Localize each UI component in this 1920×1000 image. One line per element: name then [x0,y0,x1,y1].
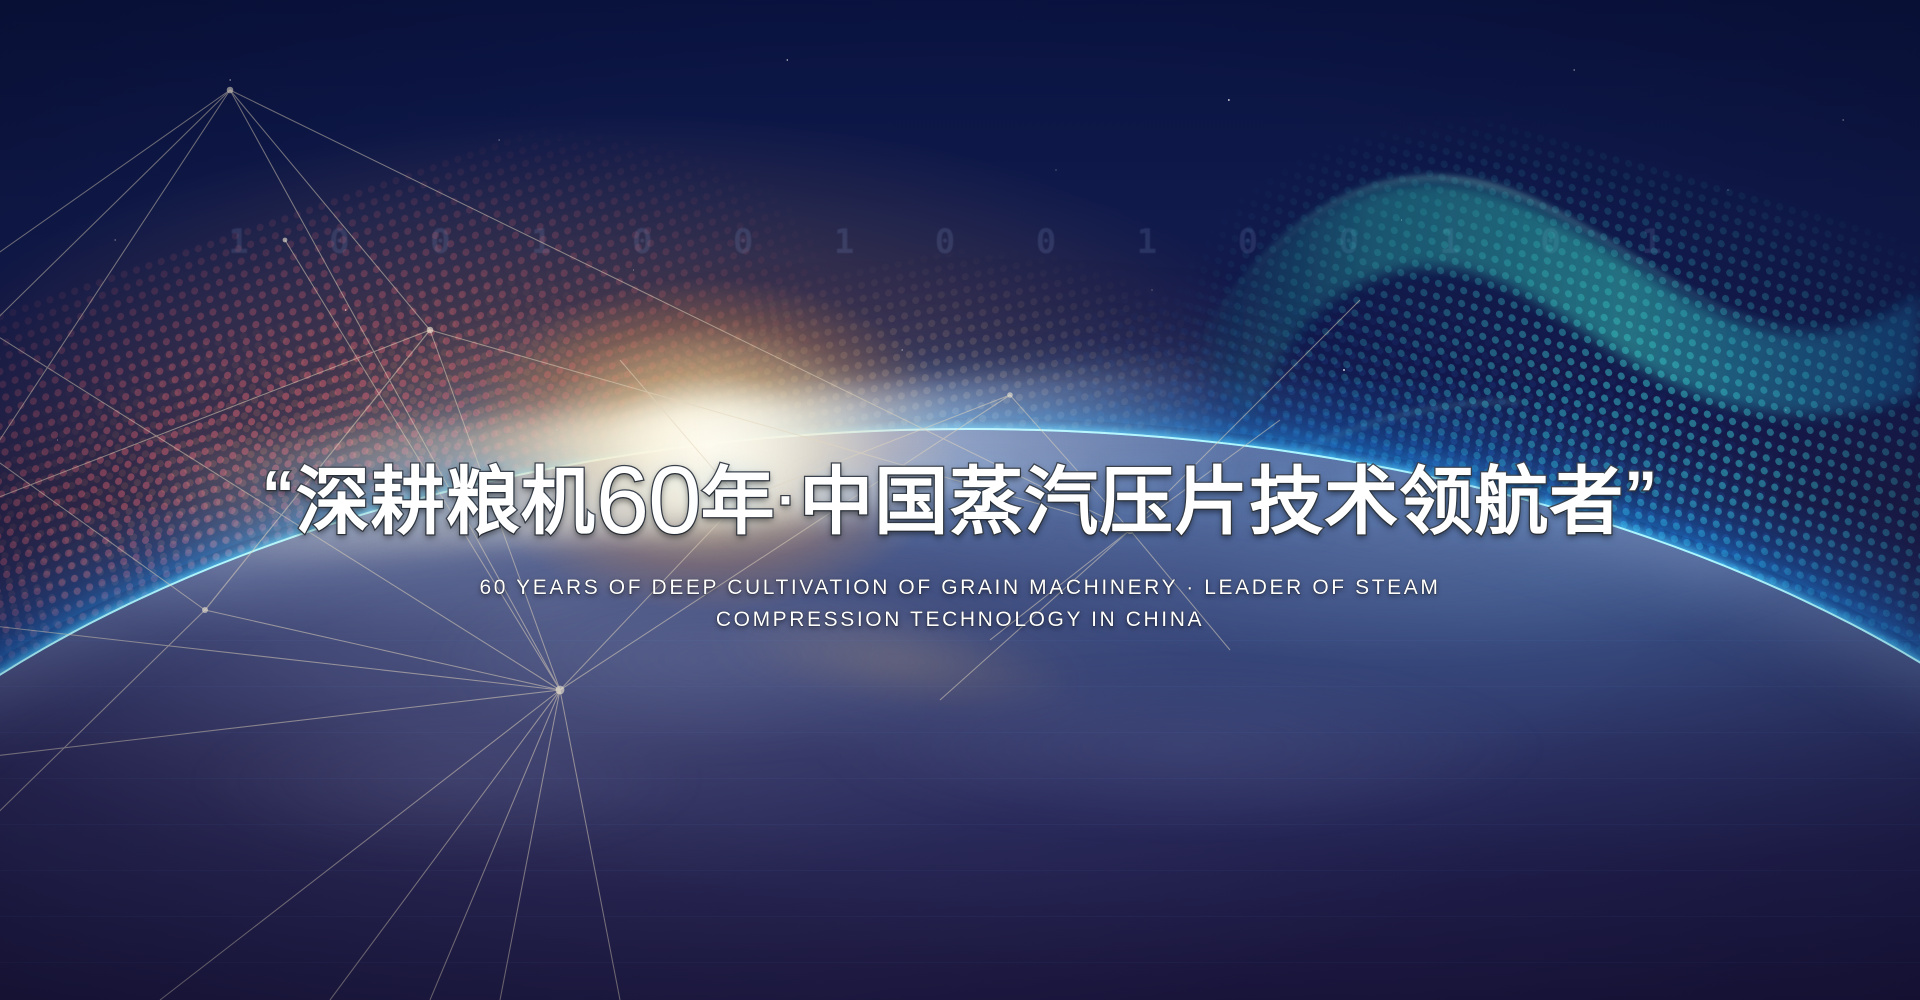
earth-globe [0,430,1920,1000]
banner-hero: 1 0 0 1 0 0 1 0 0 1 0 0 1 0 1 [0,0,1920,1000]
earth-terrain-layer [0,490,1920,1000]
